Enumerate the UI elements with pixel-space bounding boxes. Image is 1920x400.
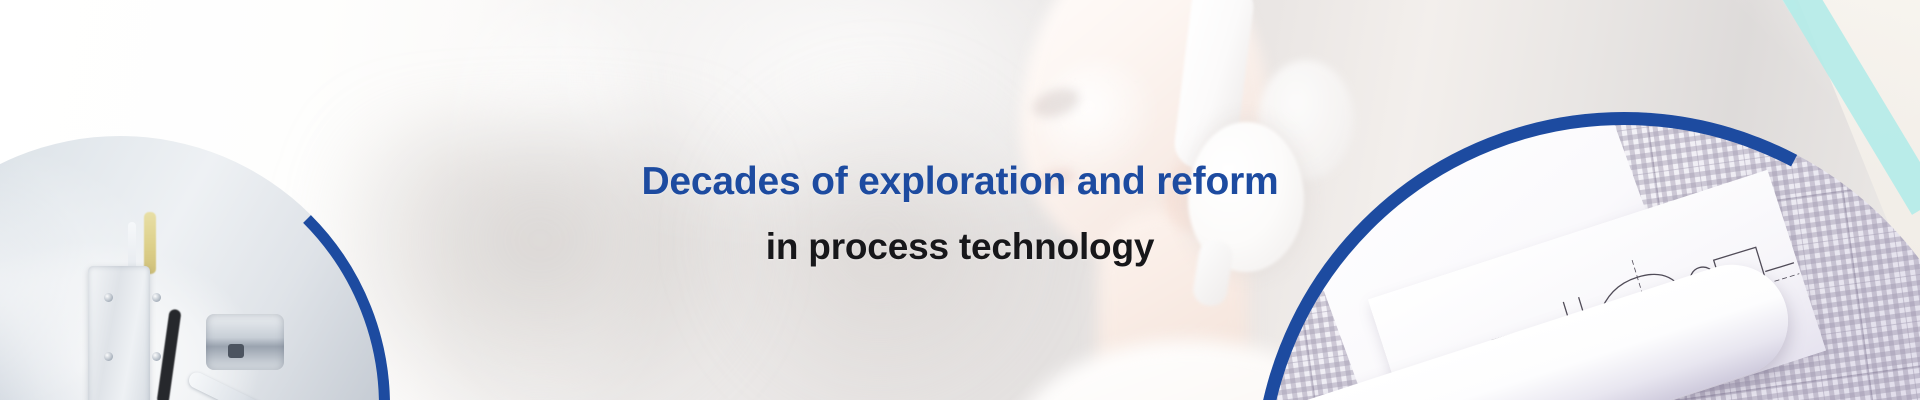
banner-headline: Decades of exploration and reform in pro… [0,162,1920,266]
machinery-robot-arm [186,370,279,400]
machinery-screw [104,293,113,302]
machinery-screw [152,352,161,361]
machinery-turret-port [228,344,244,358]
machinery-screw [104,352,113,361]
machinery-screw [152,293,161,302]
headline-line-1: Decades of exploration and reform [0,162,1920,202]
machinery-gantry-block [88,266,150,400]
hero-banner: Puspue 3 durum max 0.190 min 0.120 +0.2 … [0,0,1920,400]
machinery-turret [206,314,284,370]
headline-line-2: in process technology [0,228,1920,266]
